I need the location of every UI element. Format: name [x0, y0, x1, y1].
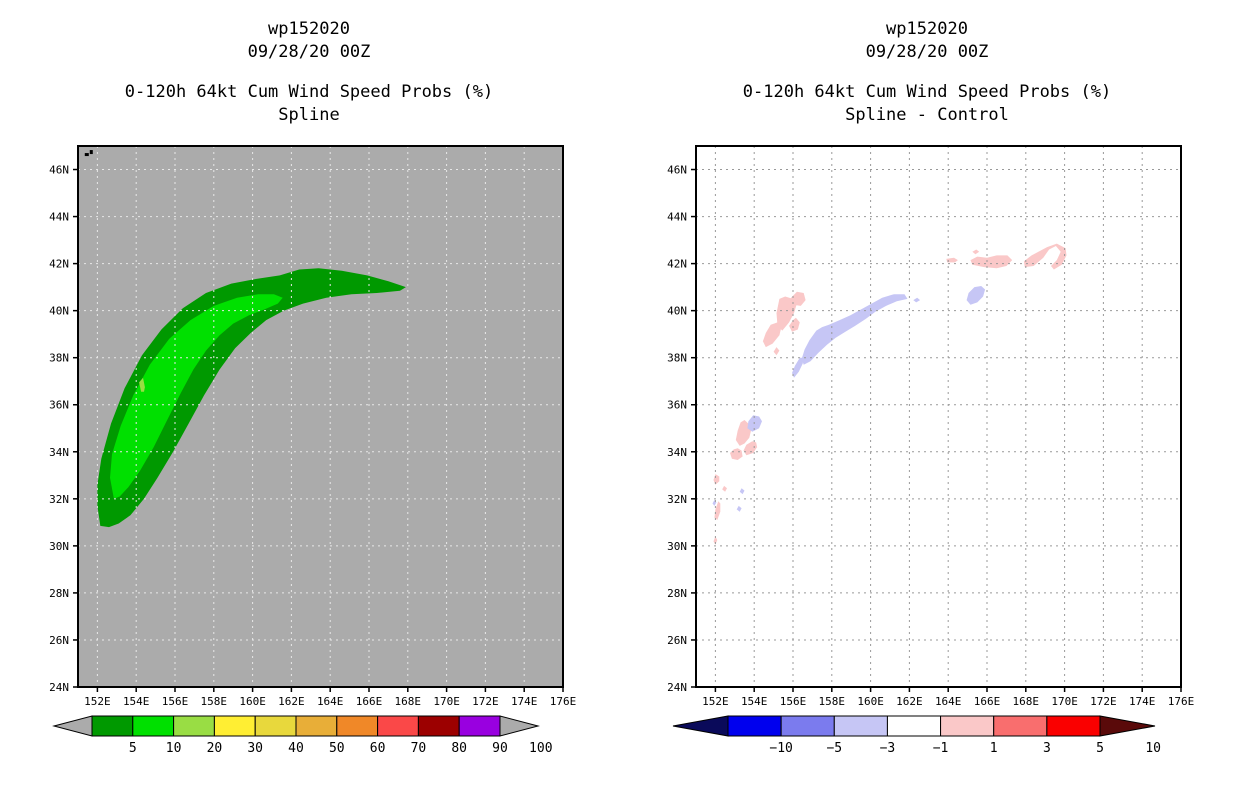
x-tick-label: 172E	[1090, 695, 1117, 708]
chart-panels-container: wp152020 09/28/20 00Z 0-120h 64kt Cum Wi…	[0, 0, 1236, 800]
x-tick-label: 164E	[317, 695, 344, 708]
colorbar-tick-label: 3	[1043, 741, 1051, 756]
coast-px	[90, 150, 93, 154]
colorbar-swatch	[337, 716, 378, 736]
x-tick-label: 162E	[278, 695, 305, 708]
colorbar-tick-label: −5	[826, 741, 842, 756]
spline-control-plot-svg: 152E154E156E158E160E162E164E166E168E170E…	[618, 0, 1236, 800]
y-tick-label: 34N	[667, 446, 687, 459]
colorbar-tick-label: 80	[451, 741, 467, 756]
colorbar-tick-label: 50	[329, 741, 345, 756]
y-tick-label: 30N	[667, 540, 687, 553]
colorbar-swatch	[418, 716, 459, 736]
y-tick-label: 36N	[49, 399, 69, 412]
y-tick-label: 28N	[667, 587, 687, 600]
y-tick-label: 32N	[49, 493, 69, 506]
colorbar-swatch	[459, 716, 500, 736]
x-tick-label: 156E	[780, 695, 807, 708]
colorbar-swatch	[834, 716, 887, 736]
x-tick-label: 170E	[433, 695, 460, 708]
x-tick-label: 166E	[356, 695, 383, 708]
colorbar-tick-label: 10	[1145, 741, 1161, 756]
colorbar-swatch	[1047, 716, 1100, 736]
x-tick-label: 158E	[201, 695, 228, 708]
colorbar-tick-label: 70	[411, 741, 427, 756]
colorbar-swatch	[994, 716, 1047, 736]
spline-plot-svg: 152E154E156E158E160E162E164E166E168E170E…	[0, 0, 618, 800]
colorbar-over-arrow	[1100, 716, 1155, 736]
y-tick-label: 26N	[49, 634, 69, 647]
x-tick-label: 162E	[896, 695, 923, 708]
colorbar-tick-label: 20	[207, 741, 223, 756]
colorbar-tick-label: −10	[769, 741, 792, 756]
colorbar-tick-label: 30	[247, 741, 263, 756]
x-tick-label: 170E	[1051, 695, 1078, 708]
y-tick-label: 24N	[49, 681, 69, 694]
colorbar-tick-label: 10	[166, 741, 182, 756]
x-tick-label: 152E	[84, 695, 111, 708]
x-tick-label: 168E	[395, 695, 422, 708]
y-tick-label: 28N	[49, 587, 69, 600]
colorbar-swatch	[133, 716, 174, 736]
x-tick-label: 174E	[511, 695, 538, 708]
colorbar-swatch	[174, 716, 215, 736]
y-tick-label: 36N	[667, 399, 687, 412]
colorbar-over-arrow	[500, 716, 538, 736]
colorbar-swatch	[214, 716, 255, 736]
y-tick-label: 32N	[667, 493, 687, 506]
x-tick-label: 176E	[1168, 695, 1195, 708]
colorbar-swatch	[92, 716, 133, 736]
y-tick-label: 46N	[667, 164, 687, 177]
colorbar-swatch	[887, 716, 940, 736]
y-tick-label: 38N	[49, 352, 69, 365]
colorbar: −10−5−3−113510	[673, 716, 1161, 756]
colorbar-tick-label: 60	[370, 741, 386, 756]
y-tick-label: 44N	[49, 211, 69, 224]
x-tick-label: 158E	[819, 695, 846, 708]
panel-spline-control-plot: 152E154E156E158E160E162E164E166E168E170E…	[618, 0, 1236, 800]
y-tick-label: 24N	[667, 681, 687, 694]
colorbar-swatch	[378, 716, 419, 736]
colorbar-tick-label: 5	[1096, 741, 1104, 756]
x-tick-label: 176E	[550, 695, 577, 708]
y-tick-label: 42N	[49, 258, 69, 271]
coast-px	[85, 153, 89, 156]
colorbar-tick-label: 40	[288, 741, 304, 756]
colorbar-under-arrow	[54, 716, 92, 736]
colorbar-tick-label: −3	[880, 741, 896, 756]
colorbar-swatch	[941, 716, 994, 736]
panel-spline-control: wp152020 09/28/20 00Z 0-120h 64kt Cum Wi…	[618, 0, 1236, 800]
y-tick-label: 42N	[667, 258, 687, 271]
y-tick-label: 34N	[49, 446, 69, 459]
colorbar-under-arrow	[673, 716, 728, 736]
colorbar-tick-label: 5	[129, 741, 137, 756]
colorbar-swatch	[728, 716, 781, 736]
x-tick-label: 160E	[857, 695, 884, 708]
colorbar-tick-label: −1	[933, 741, 949, 756]
x-tick-label: 172E	[472, 695, 499, 708]
x-tick-label: 174E	[1129, 695, 1156, 708]
colorbar-tick-label: 1	[990, 741, 998, 756]
panel-spline: wp152020 09/28/20 00Z 0-120h 64kt Cum Wi…	[0, 0, 618, 800]
y-tick-label: 40N	[667, 305, 687, 318]
y-tick-label: 44N	[667, 211, 687, 224]
y-tick-label: 38N	[667, 352, 687, 365]
x-tick-label: 154E	[741, 695, 768, 708]
panel-spline-plot: 152E154E156E158E160E162E164E166E168E170E…	[0, 0, 618, 800]
plot-background	[696, 146, 1181, 687]
colorbar: 5102030405060708090100	[54, 716, 553, 756]
x-tick-label: 164E	[935, 695, 962, 708]
y-tick-label: 40N	[49, 305, 69, 318]
x-tick-label: 160E	[239, 695, 266, 708]
colorbar-swatch	[296, 716, 337, 736]
x-tick-label: 154E	[123, 695, 150, 708]
colorbar-tick-label: 90	[492, 741, 508, 756]
x-tick-label: 166E	[974, 695, 1001, 708]
colorbar-tick-label: 100	[529, 741, 552, 756]
x-tick-label: 156E	[162, 695, 189, 708]
y-tick-label: 46N	[49, 164, 69, 177]
colorbar-swatch	[255, 716, 296, 736]
x-tick-label: 168E	[1013, 695, 1040, 708]
y-tick-label: 26N	[667, 634, 687, 647]
x-tick-label: 152E	[702, 695, 729, 708]
colorbar-swatch	[781, 716, 834, 736]
y-tick-label: 30N	[49, 540, 69, 553]
